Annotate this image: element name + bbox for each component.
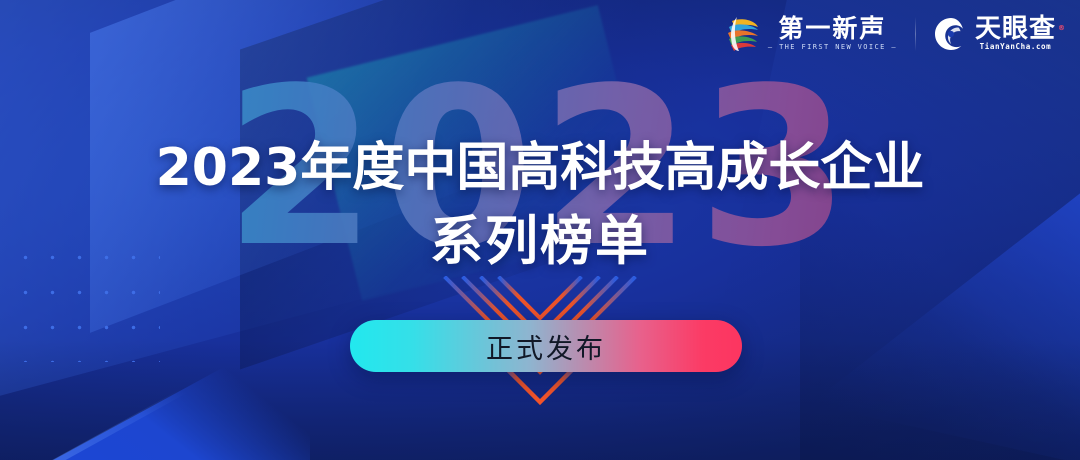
logo-diyixinsheng-name: 第一新声 — [778, 16, 886, 42]
headline-block: 2023年度中国高科技高成长企业 系列榜单 — [0, 132, 1080, 278]
logo-diyixinsheng-tagline: — THE FIRST NEW VOICE — — [768, 42, 897, 52]
swirl-ribbon-icon — [725, 14, 761, 54]
promo-banner: 2023 — [0, 0, 1080, 460]
logo-tianyancha-name: 天眼查® — [975, 16, 1056, 42]
release-status-pill[interactable]: 正式发布 — [350, 320, 742, 372]
logo-lockup: 第一新声 — THE FIRST NEW VOICE — 天眼查® TianYa… — [725, 14, 1056, 54]
logo-divider — [915, 17, 916, 51]
trademark-icon: ® — [1058, 15, 1065, 41]
headline-line-1: 2023年度中国高科技高成长企业 — [0, 132, 1080, 205]
headline-line-2: 系列榜单 — [0, 205, 1080, 278]
logo-diyixinsheng[interactable]: 第一新声 — THE FIRST NEW VOICE — — [725, 14, 897, 54]
release-status-label: 正式发布 — [486, 327, 606, 366]
logo-tianyancha-name-text: 天眼查 — [975, 14, 1056, 44]
logo-tianyancha[interactable]: 天眼查® TianYanCha.com — [934, 16, 1056, 52]
aperture-eye-icon — [934, 17, 968, 51]
